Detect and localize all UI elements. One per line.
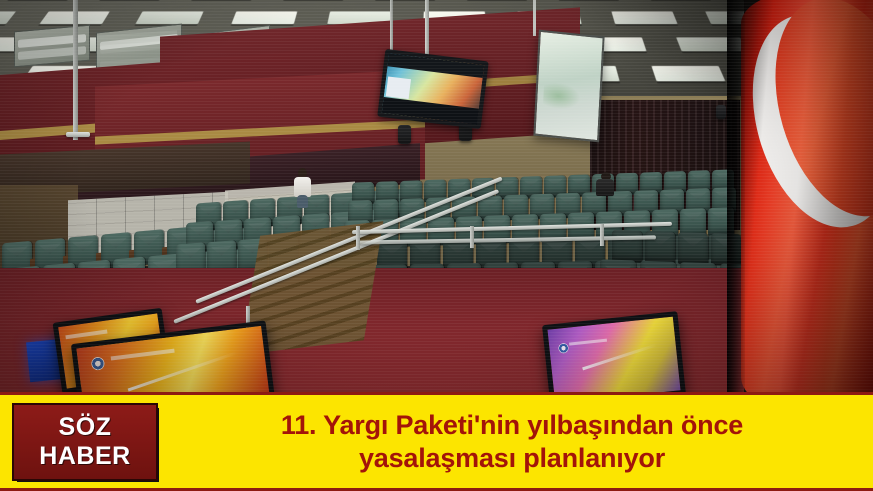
logo-line-1: SÖZ [59, 415, 112, 440]
news-screenshot: SÖZ HABER 11. Yargı Paketi'nin yılbaşınd… [0, 0, 873, 491]
headline-line-1: 11. Yargı Paketi'nin yılbaşından önce [165, 409, 859, 442]
projection-screen [533, 30, 604, 143]
speaker-left [398, 125, 411, 144]
laptop-magenta-right [542, 311, 686, 393]
person-white-shirt [293, 168, 315, 208]
channel-logo[interactable]: SÖZ HABER [12, 403, 159, 481]
turkish-flag [727, 0, 873, 393]
screen-mount-pole [533, 0, 536, 36]
railing-post-1 [356, 226, 360, 250]
headline-line-2: yasalaşması planlanıyor [165, 442, 859, 475]
person-torso [596, 179, 614, 196]
railing-post-3 [600, 224, 604, 246]
person-dark-clothes [596, 172, 618, 202]
control-booth-window-1 [14, 25, 90, 68]
person-torso [294, 177, 311, 197]
headline: 11. Yargı Paketi'nin yılbaşından önce ya… [165, 409, 873, 475]
monitor-mount-pole [425, 0, 429, 58]
railing-post-2 [470, 226, 474, 248]
news-banner: SÖZ HABER 11. Yargı Paketi'nin yılbaşınd… [0, 392, 873, 491]
speaker-far-right [716, 105, 726, 119]
logo-plate: SÖZ HABER [12, 403, 158, 481]
suspended-monitor [377, 49, 489, 129]
pole-bracket [66, 132, 90, 137]
person-legs [297, 195, 308, 208]
support-pole-left [73, 0, 78, 140]
logo-line-2: HABER [39, 444, 130, 469]
news-photo [0, 0, 873, 393]
